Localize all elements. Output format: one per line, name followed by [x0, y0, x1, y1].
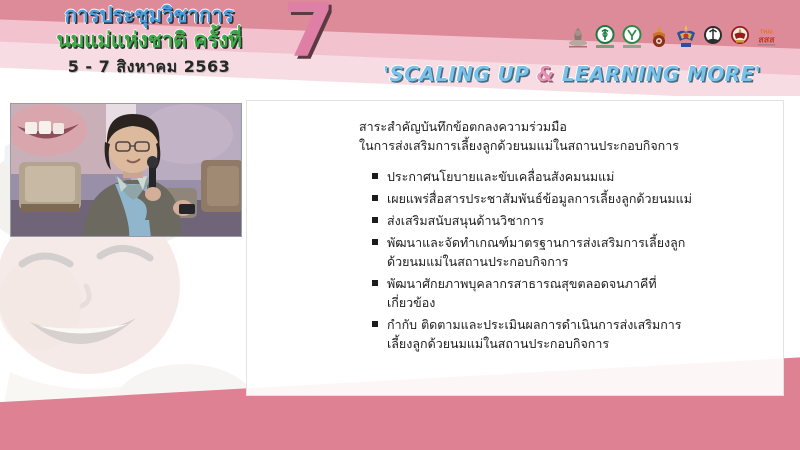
speaker-video-inset[interactable]	[10, 103, 242, 237]
intro-line-2: ในการส่งเสริมการเลี้ยงลูกด้วยนมแม่ในสถาน…	[359, 136, 765, 155]
ministry-public-health-logo	[593, 24, 616, 49]
conference-title: การประชุมวิชาการ นมแม่แห่งชาติ ครั้งที่ …	[14, 3, 284, 80]
royal-crest-logo	[647, 24, 670, 49]
garuda-emblem-logo	[674, 24, 697, 49]
tagline-prefix: 'SCALING UP	[383, 62, 537, 86]
edition-number: 7	[283, 0, 335, 68]
sponsor-logo-strip: THAI สสส	[566, 24, 778, 49]
bullet-line-1: ประกาศนโยบายและขับเคลื่อนสังคมนมแม่	[387, 169, 614, 184]
medical-council-logo	[701, 24, 724, 49]
bullet-line-1: พัฒนาศักยภาพบุคลากรสาธารณสุขตลอดจนภาคีที…	[387, 276, 657, 291]
conference-tagline: 'SCALING UP & LEARNING MORE'	[352, 62, 792, 86]
red-crest-logo	[728, 24, 751, 49]
intro-text: สาระสำคัญบันทึกข้อตกลงความร่วมมือ ในการส…	[359, 117, 765, 155]
bullet-line-1: เผยแพร่สื่อสารประชาสัมพันธ์ข้อมูลการเลี้…	[387, 191, 692, 206]
health-department-logo	[620, 24, 643, 49]
conference-date: 5 - 7 สิงหาคม 2563	[14, 55, 284, 80]
tagline-ampersand: &	[537, 62, 555, 86]
tagline-suffix: LEARNING MORE'	[554, 62, 761, 86]
bullet-list: ประกาศนโยบายและขับเคลื่อนสังคมนมแม่ เผยแ…	[371, 167, 765, 353]
thaihealth-sss-logo: THAI สสส	[755, 24, 778, 49]
bullet-line-1: ส่งเสริมสนับสนุนด้านวิชาการ	[387, 213, 544, 228]
royal-emblem-logo	[566, 24, 589, 49]
bullet-line-2: เลี้ยงลูกด้วยนมแม่ในสถานประกอบกิจการ	[387, 334, 765, 353]
presentation-slide: สาระสำคัญบันทึกข้อตกลงความร่วมมือ ในการส…	[0, 0, 800, 450]
title-line-1: การประชุมวิชาการ	[14, 3, 284, 28]
bullet-line-2: ด้วยนมแม่ในสถานประกอบกิจการ	[387, 252, 765, 271]
intro-line-1: สาระสำคัญบันทึกข้อตกลงความร่วมมือ	[359, 117, 765, 136]
content-panel: สาระสำคัญบันทึกข้อตกลงความร่วมมือ ในการส…	[246, 100, 784, 396]
list-item: ประกาศนโยบายและขับเคลื่อนสังคมนมแม่	[371, 167, 765, 186]
list-item: พัฒนาและจัดทำเกณฑ์มาตรฐานการส่งเสริมการเ…	[371, 233, 765, 271]
svg-text:สสส: สสส	[758, 35, 775, 45]
title-line-2: นมแม่แห่งชาติ ครั้งที่	[14, 28, 284, 53]
list-item: กำกับ ติดตามและประเมินผลการดำเนินการส่งเ…	[371, 315, 765, 353]
list-item: ส่งเสริมสนับสนุนด้านวิชาการ	[371, 211, 765, 230]
bullet-line-2: เกี่ยวข้อง	[387, 293, 765, 312]
list-item: พัฒนาศักยภาพบุคลากรสาธารณสุขตลอดจนภาคีที…	[371, 274, 765, 312]
bullet-line-1: กำกับ ติดตามและประเมินผลการดำเนินการส่งเ…	[387, 317, 682, 332]
list-item: เผยแพร่สื่อสารประชาสัมพันธ์ข้อมูลการเลี้…	[371, 189, 765, 208]
bullet-line-1: พัฒนาและจัดทำเกณฑ์มาตรฐานการส่งเสริมการเ…	[387, 235, 685, 250]
